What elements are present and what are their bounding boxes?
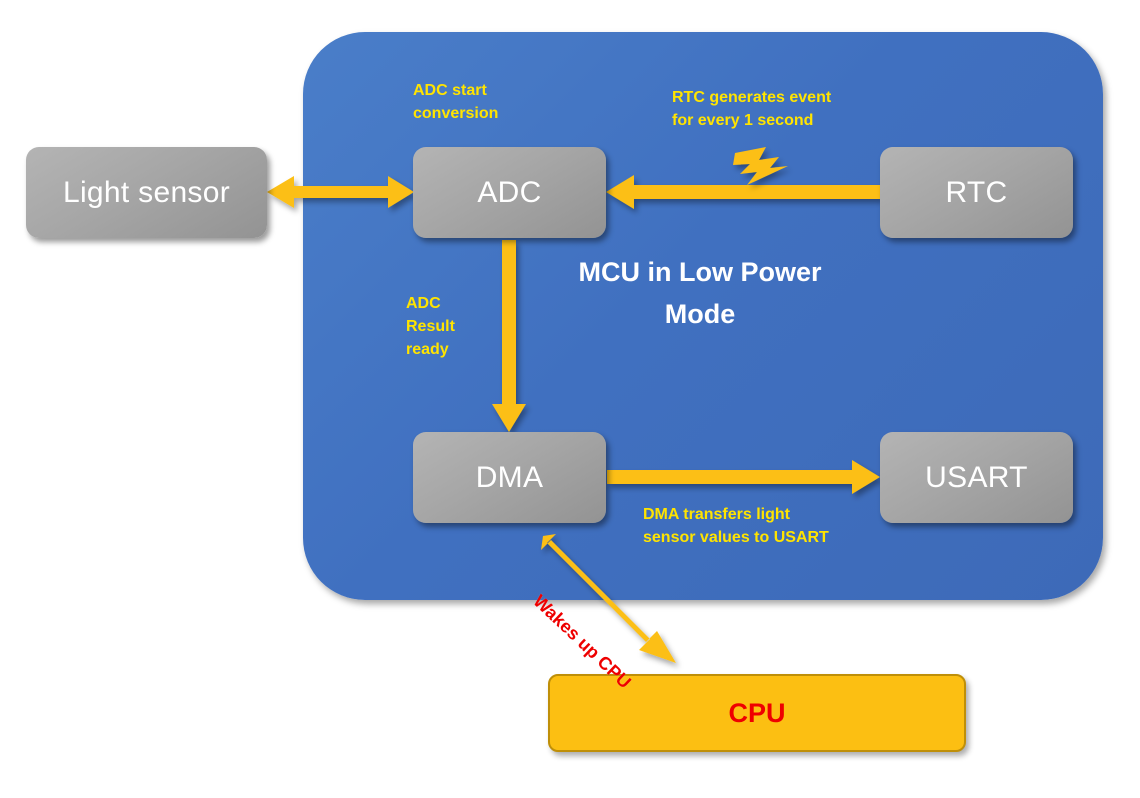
node-cpu[interactable]: CPU — [548, 674, 966, 752]
node-usart[interactable]: USART — [880, 432, 1073, 523]
diagram-canvas: MCU in Low Power Mode Light sensor ADC R… — [0, 0, 1140, 798]
annotation-adc-start-conversion: ADC start conversion — [413, 79, 573, 125]
node-rtc[interactable]: RTC — [880, 147, 1073, 238]
annotation-dma-transfers-to-usart: DMA transfers light sensor values to USA… — [643, 503, 873, 549]
annotation-adc-result-ready: ADC Result ready — [406, 292, 496, 362]
annotation-rtc-generates-event: RTC generates event for every 1 second — [672, 86, 872, 132]
node-light-sensor[interactable]: Light sensor — [26, 147, 267, 238]
node-dma[interactable]: DMA — [413, 432, 606, 523]
node-adc[interactable]: ADC — [413, 147, 606, 238]
mcu-container-label: MCU in Low Power Mode — [560, 252, 840, 336]
